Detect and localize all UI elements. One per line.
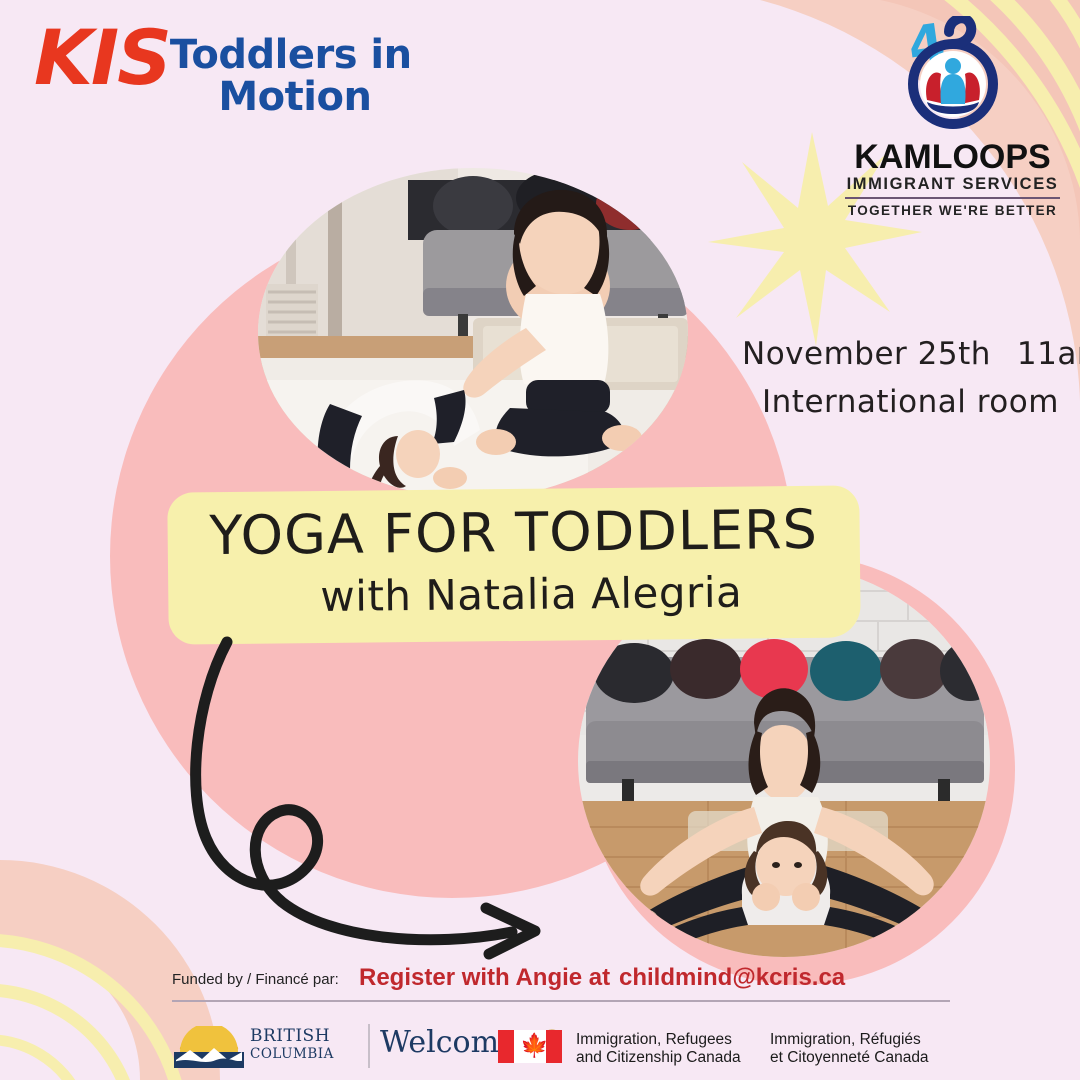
poster-canvas: KISToddlers inMotion 4 [0,0,1080,1080]
register-cta: Register with Angie at [359,964,610,992]
funder-logo-row: BRITISH COLUMBIA WelcomeBC 🍁 Immigration… [172,1022,962,1074]
irc-en-line2: and Citizenship Canada [576,1049,741,1067]
irc-en-line1: Immigration, Refugees [576,1031,741,1049]
irc-french-text: Immigration, Réfugiés et Citoyenneté Can… [770,1031,929,1068]
bc-line2: COLUMBIA [250,1047,334,1063]
footer-contact-row: Funded by / Financé par: Register with A… [172,960,972,1000]
bc-line1: BRITISH [250,1027,334,1047]
canada-flag-icon: 🍁 [498,1030,562,1063]
funded-by-label: Funded by / Financé par: [172,971,339,988]
bc-wordmark: BRITISH COLUMBIA [250,1027,334,1062]
irc-fr-line1: Immigration, Réfugiés [770,1031,929,1049]
contact-email[interactable]: childmind@kcris.ca [619,964,845,992]
irc-english-text: Immigration, Refugees and Citizenship Ca… [576,1031,741,1068]
irc-fr-line2: et Citoyenneté Canada [770,1049,929,1067]
welcomebc-word: Welcome [380,1025,517,1060]
footer-divider [172,1000,950,1002]
bc-divider [368,1024,370,1068]
curved-arrow-icon [0,0,1080,1080]
bc-sun-mountain-icon [174,1026,244,1068]
